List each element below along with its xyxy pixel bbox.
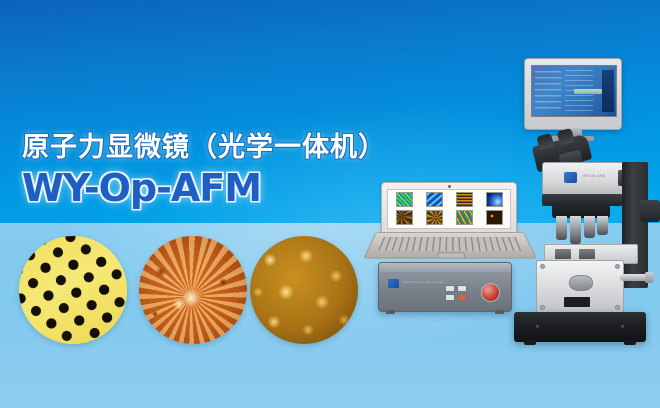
software-panel-right [602, 70, 614, 112]
microscope-head-text: WY-Op-AFM [583, 174, 605, 178]
scan-thumbnail-image [456, 210, 473, 225]
screw-icon [540, 264, 545, 269]
controller-indicator-panel [445, 285, 467, 301]
power-button[interactable] [481, 283, 500, 302]
scan-thumbnail [420, 210, 449, 227]
brand-logo-icon [388, 279, 399, 288]
screw-icon [615, 264, 620, 269]
indicator-led [445, 294, 455, 301]
objective-lens [570, 216, 581, 244]
controller-foot [386, 310, 395, 314]
brand-logo-icon [564, 172, 577, 183]
page-title: 原子力显微镜（光学一体机） [22, 125, 386, 164]
base-foot [524, 340, 536, 345]
stage-slot [555, 249, 571, 259]
scan-thumbnail-image [426, 192, 443, 207]
base-screw-icon [536, 325, 539, 328]
screw-icon [540, 305, 545, 310]
base-screw-icon [621, 325, 624, 328]
screw-icon [615, 305, 620, 310]
sample-image-nanopore-array [19, 236, 127, 344]
indicator-led [457, 285, 467, 292]
scan-thumbnail [390, 210, 419, 227]
monitor-screen [531, 65, 617, 117]
scanner-nameplate [564, 297, 590, 307]
scan-thumbnail-image [396, 192, 413, 207]
product-banner: 原子力显微镜（光学一体机） WY-Op-AFM [0, 0, 660, 408]
sample-image-gold-grains [250, 236, 358, 344]
afm-scanner-body [536, 260, 624, 314]
sample-image-polymer-surface [139, 236, 247, 344]
controller-brand-text: Atomic Force Microscope [403, 280, 444, 284]
column-module [640, 200, 660, 222]
product-model: WY-Op-AFM [22, 166, 261, 210]
nanopore-pattern-offset [19, 236, 127, 344]
software-status-bar [574, 89, 602, 94]
stage-slot [579, 249, 595, 259]
base-foot [624, 340, 636, 345]
scanner-dial[interactable] [569, 275, 593, 291]
microscope-column [622, 162, 648, 288]
monitor [524, 58, 622, 130]
laptop-touchpad [437, 252, 465, 258]
scan-thumbnail-image [396, 210, 413, 225]
afm-microscope: WY-Op-AFM [500, 58, 660, 330]
objective-lens [597, 216, 608, 235]
software-panel-left [535, 71, 561, 111]
objective-lens [584, 216, 595, 238]
microscope-head: WY-Op-AFM [542, 162, 634, 196]
indicator-led [457, 294, 467, 301]
laptop-screen [387, 189, 511, 229]
objective-lens [556, 216, 567, 240]
scan-thumbnail-image [426, 210, 443, 225]
granite-base [514, 312, 646, 342]
laptop-lid [381, 182, 517, 236]
scan-thumbnail [450, 210, 479, 227]
webcam-icon [448, 185, 451, 188]
indicator-led [445, 285, 455, 292]
scan-thumbnail [420, 192, 449, 209]
stage-translation-knob[interactable] [620, 274, 650, 281]
scan-thumbnail-image [456, 192, 473, 207]
scan-thumbnail [390, 192, 419, 209]
scan-thumbnail [450, 192, 479, 209]
